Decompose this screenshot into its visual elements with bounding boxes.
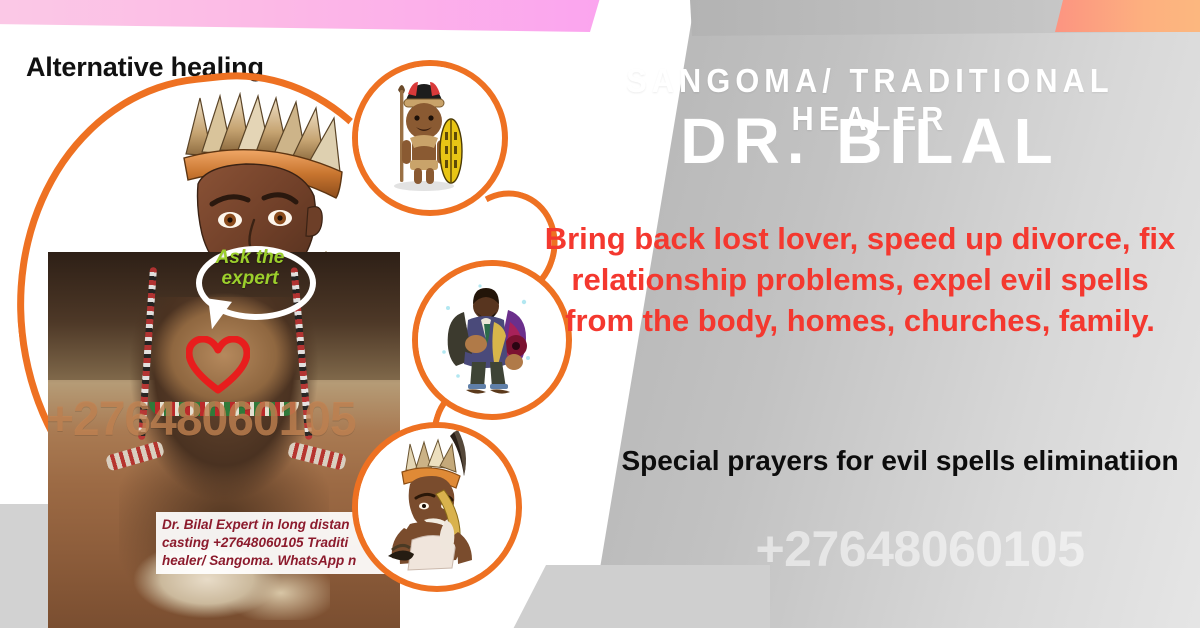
circle-image-zulu-warrior	[352, 60, 508, 216]
caption-line-3: healer/ Sangoma. WhatsApp n	[162, 552, 384, 570]
heart-icon	[186, 336, 250, 394]
pink-top-band	[0, 0, 610, 32]
orange-top-band	[1055, 0, 1200, 32]
special-prayers-subheading: Special prayers for evil spells eliminat…	[610, 442, 1190, 480]
services-pitch: Bring back lost lover, speed up divorce,…	[540, 218, 1180, 342]
photo-phone-watermark: +27648060105	[46, 392, 356, 447]
bottom-left-gray-accent	[0, 504, 50, 628]
poster-canvas: Alternative healing	[0, 0, 1200, 628]
caption-line-1: Dr. Bilal Expert in long distan	[162, 516, 384, 534]
healer-name: DR. BILAL	[560, 104, 1180, 178]
circle-image-crouching-warrior	[352, 422, 522, 592]
speech-bubble-text: Ask the expert	[196, 248, 304, 290]
caption-line-2: casting +27648060105 Traditi	[162, 534, 384, 552]
phone-watermark: +27648060105	[650, 520, 1190, 578]
